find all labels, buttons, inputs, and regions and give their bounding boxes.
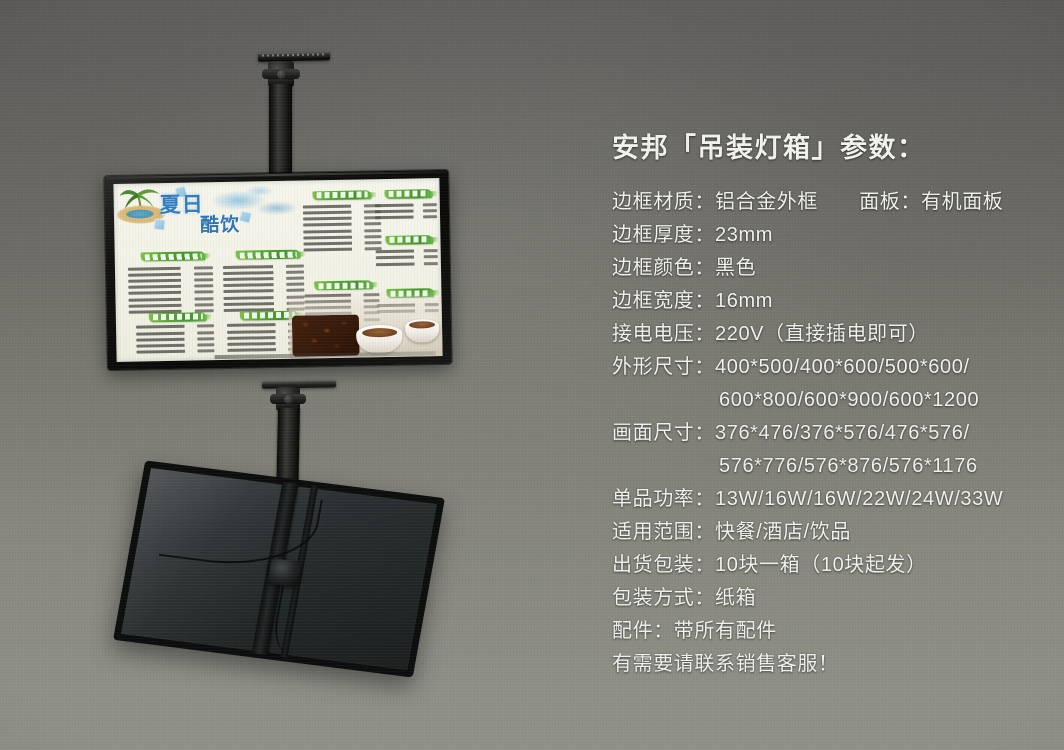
spec-line-pack-method: 包装方式：纸箱 [612,582,1042,615]
spec-line-outer-size-cont: 600*800/600*900/600*1200 [612,384,1042,417]
rear-mount-hub [267,558,301,587]
spec-line-application: 适用范围：快餐/酒店/饮品 [612,516,1042,549]
spec-line-frame-color: 边框颜色：黑色 [612,252,1042,285]
menu-hero-art: 夏日 酷饮 [113,181,300,243]
spec-line-frame-material: 边框材质：铝合金外框 面板：有机面板 [612,186,1042,219]
spec-line-picture-size-cont: 576*776/576*876/576*1176 [612,450,1042,483]
extension-pole-top [269,84,292,182]
spec-line-outer-size: 外形尺寸：400*500/400*600/500*600/ [612,351,1042,384]
menu-category-header [235,250,300,260]
product-spec-image: 夏日 酷饮 [0,0,1064,750]
spec-line-frame-width: 边框宽度：16mm [612,285,1042,318]
menu-item-rows [375,203,437,223]
menu-item-rows [136,325,215,357]
menu-item-rows [375,249,437,269]
spec-line-contact: 有需要请联系销售客服！ [612,648,1042,681]
menu-category-header [141,252,206,262]
menu-category-header [314,281,373,291]
spec-title: 安邦「吊装灯箱」参数： [612,126,1042,165]
menu-title-line2: 酷饮 [200,210,241,238]
coffee-cup [405,319,439,342]
menu-title-line1: 夏日 [159,188,204,219]
menu-panel: 夏日 酷饮 [113,178,442,362]
coffee-photo [288,290,442,359]
spec-list: 安邦「吊装灯箱」参数： 边框材质：铝合金外框 面板：有机面板边框厚度：23mm边… [612,126,1042,681]
menu-category-header [312,190,371,200]
lightbox-rear-view [113,460,445,677]
spec-line-accessories: 配件：带所有配件 [612,615,1042,648]
ceiling-mount-plate [258,51,330,62]
menu-category-header [385,235,434,245]
menu-item-rows [128,266,214,317]
hanging-lightbox-front: 夏日 酷饮 [104,170,451,370]
spec-line-voltage: 接电电压：220V（直接插电即可） [612,318,1042,351]
spec-lines: 边框材质：铝合金外框 面板：有机面板边框厚度：23mm边框颜色：黑色边框宽度：1… [612,186,1042,681]
spec-line-frame-thickness: 边框厚度：23mm [612,219,1042,252]
coffee-cup [356,325,402,353]
spec-line-picture-size: 画面尺寸：376*476/376*576/476*576/ [612,417,1042,450]
product-photo: 夏日 酷饮 [0,0,560,750]
coffee-beans [292,315,360,357]
spec-line-shipping-pack: 出货包装：10块一箱（10块起发） [612,549,1042,582]
menu-category-header [384,189,433,199]
ice-cube-icon [154,219,166,231]
spec-line-power: 单品功率：13W/16W/16W/22W/24W/33W [612,483,1042,516]
menu-item-rows [303,204,382,255]
menu-category-header [148,312,207,322]
